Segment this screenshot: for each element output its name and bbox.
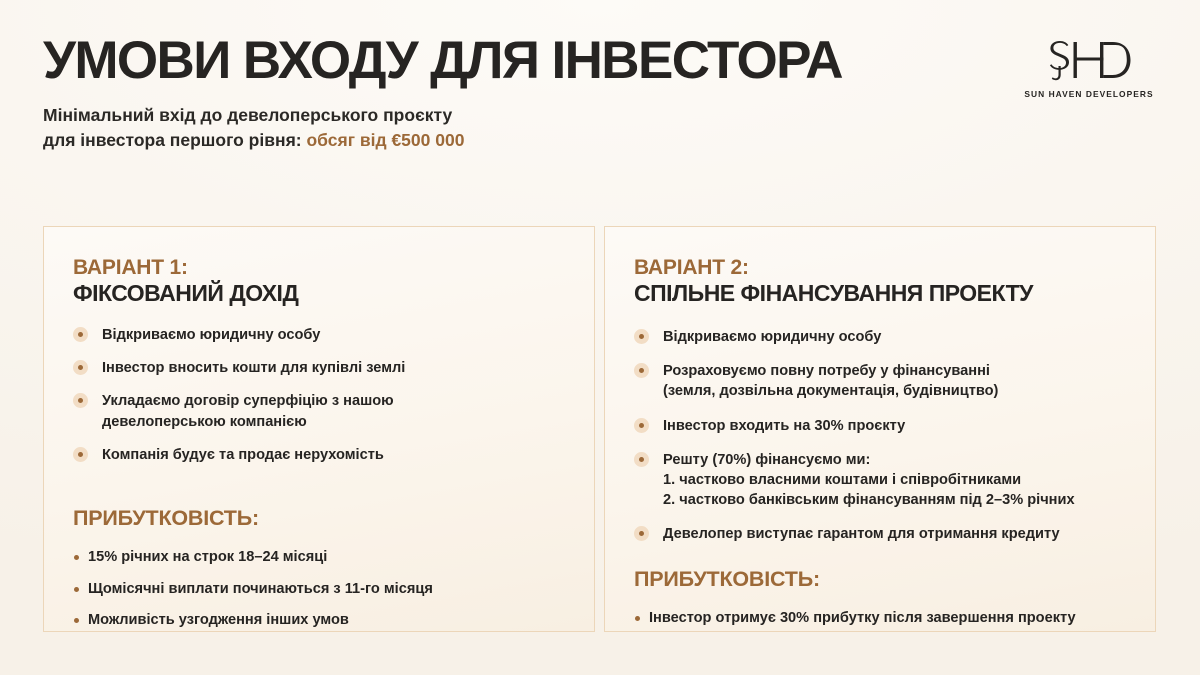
variant-title: СПІЛЬНЕ ФІНАНСУВАННЯ ПРОЕКТУ	[634, 280, 1125, 307]
list-item-text: Інвестор отримує 30% прибутку після заве…	[649, 610, 1076, 626]
logo-wordmark: SUN HAVEN DEVELOPERS	[1014, 89, 1164, 99]
variant-2-bullet-list: Відкриваємо юридичну особу Розраховуємо …	[634, 327, 1125, 544]
list-item: Девелопер виступає гарантом для отриманн…	[634, 524, 1125, 544]
subtitle-line-1: Мінімальний вхід до девелоперського проє…	[43, 105, 452, 125]
profitability-heading: ПРИБУТКОВІСТЬ:	[634, 568, 1125, 592]
list-item-text: Девелопер виступає гарантом для отриманн…	[663, 526, 1060, 542]
page-subtitle: Мінімальний вхід до девелоперського проє…	[43, 103, 663, 153]
list-item: Інвестор отримує 30% прибутку після заве…	[634, 608, 1125, 628]
subtitle-line-2-plain: для інвестора першого рівня:	[43, 130, 302, 150]
page-title: УМОВИ ВХОДУ ДЛЯ ІНВЕСТОРА	[43, 34, 1170, 87]
list-item: Укладаємо договір суперфіцію з нашою дев…	[73, 391, 564, 431]
list-item-text: 15% річних на строк 18–24 місяці	[88, 549, 327, 565]
list-item-text: Інвестор входить на 30% проєкту	[663, 418, 905, 434]
list-item-text: Компанія будує та продає нерухомість	[102, 447, 384, 463]
profitability-heading: ПРИБУТКОВІСТЬ:	[73, 507, 564, 531]
list-item-text: Відкриваємо юридичну особу	[102, 327, 320, 343]
list-item-text: Можливість узгодження інших умов	[88, 612, 349, 628]
list-item-text: Інвестор вносить кошти для купівлі землі	[102, 360, 405, 376]
variant-1-bullet-list: Відкриваємо юридичну особу Інвестор внос…	[73, 325, 564, 465]
page-header: УМОВИ ВХОДУ ДЛЯ ІНВЕСТОРА Мінімальний вх…	[43, 34, 1170, 174]
list-item-subtext: девелоперською компанією	[102, 412, 564, 432]
variant-label: ВАРІАНТ 2:	[634, 256, 1125, 280]
variant-1-profitability-list: 15% річних на строк 18–24 місяці Щомісяч…	[73, 547, 564, 632]
list-item-subtext: (земля, дозвільна документація, будівниц…	[663, 381, 1125, 401]
list-item-subtext: (наприклад, 12% — решта у Ваш бонус)	[88, 630, 564, 632]
variant-2-profitability-list: Інвестор отримує 30% прибутку після заве…	[634, 608, 1125, 632]
option-card-variant-1: ВАРІАНТ 1: ФІКСОВАНИЙ ДОХІД Відкриваємо …	[43, 226, 595, 632]
subtitle-amount-accent: обсяг від €500 000	[306, 130, 464, 150]
variant-title: ФІКСОВАНИЙ ДОХІД	[73, 280, 564, 307]
option-card-variant-2: ВАРІАНТ 2: СПІЛЬНЕ ФІНАНСУВАННЯ ПРОЕКТУ …	[604, 226, 1156, 632]
variant-2-profitability-section: ПРИБУТКОВІСТЬ: Інвестор отримує 30% приб…	[634, 568, 1125, 632]
list-item: Відкриваємо юридичну особу	[73, 325, 564, 345]
list-item: Відкриваємо юридичну особу	[634, 327, 1125, 347]
list-item-text: Щомісячні виплати починаються з 11-го мі…	[88, 581, 433, 597]
list-item: Можливість узгодження інших умов (наприк…	[73, 610, 564, 632]
list-item: 15% річних на строк 18–24 місяці	[73, 547, 564, 567]
list-item-subtext: 1. частково власними коштами і співробіт…	[663, 470, 1125, 510]
list-item: Щомісячні виплати починаються з 11-го мі…	[73, 579, 564, 599]
variant-label: ВАРІАНТ 1:	[73, 256, 564, 280]
list-item-text: Укладаємо договір суперфіцію з нашою	[102, 393, 394, 409]
list-item: Інвестор входить на 30% проєкту	[634, 416, 1125, 436]
list-item: Решту (70%) фінансуємо ми: 1. частково в…	[634, 450, 1125, 510]
variant-1-profitability-section: ПРИБУТКОВІСТЬ: 15% річних на строк 18–24…	[73, 507, 564, 632]
shd-monogram-icon	[1030, 36, 1148, 86]
brand-logo: SUN HAVEN DEVELOPERS	[1014, 36, 1164, 99]
list-item-text: Решту (70%) фінансуємо ми:	[663, 452, 870, 468]
list-item: Компанія будує та продає нерухомість	[73, 445, 564, 465]
list-item-text: Відкриваємо юридичну особу	[663, 329, 881, 345]
list-item-text: Розраховуємо повну потребу у фінансуванн…	[663, 363, 990, 379]
list-item: Розраховуємо повну потребу у фінансуванн…	[634, 361, 1125, 401]
list-item: Інвестор вносить кошти для купівлі землі	[73, 358, 564, 378]
investment-options-container: ВАРІАНТ 1: ФІКСОВАНИЙ ДОХІД Відкриваємо …	[43, 226, 1156, 632]
